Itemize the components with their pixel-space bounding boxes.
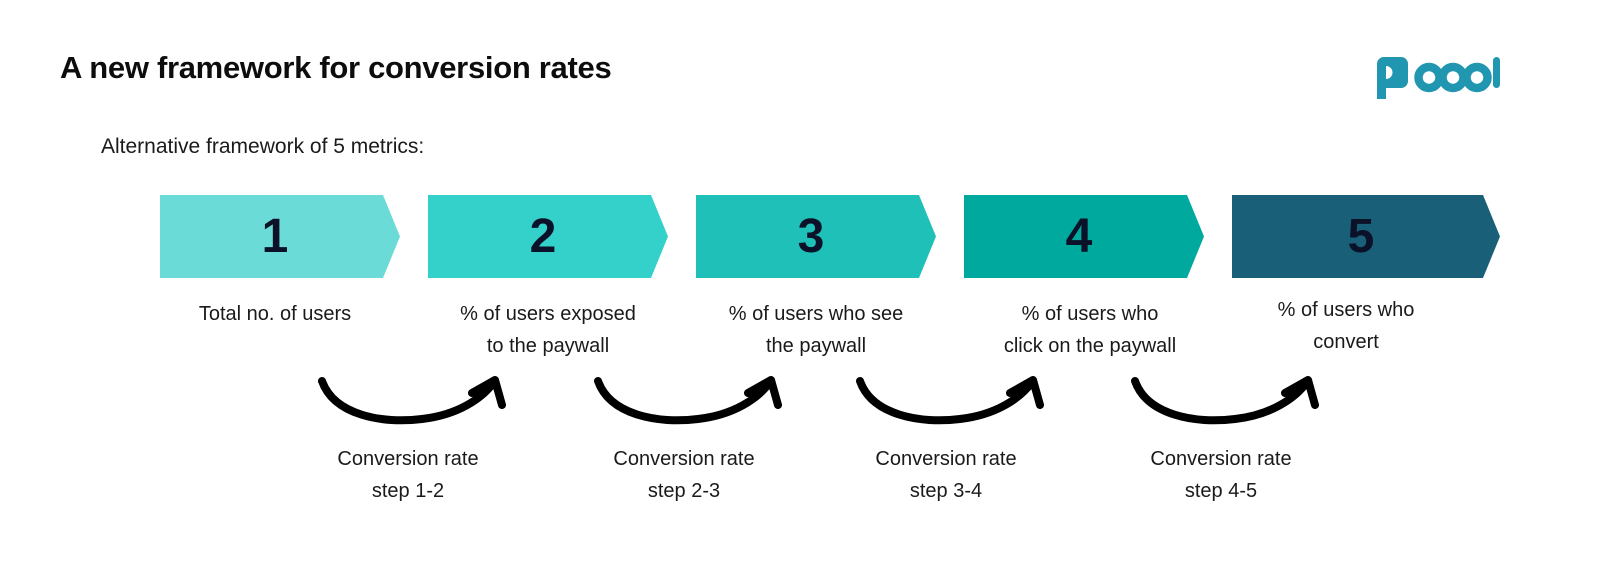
conversion-arrow-4-5: [1125, 375, 1325, 423]
step-caption-3: % of users who see the paywall: [686, 298, 946, 362]
funnel-step-4[interactable]: 4: [964, 195, 1204, 278]
conversion-arrow-1-2: [312, 375, 512, 423]
conversion-label-4-5: Conversion rate step 4-5: [1101, 443, 1341, 507]
caption-line: the paywall: [686, 330, 946, 362]
curved-arrow-icon: [1135, 380, 1315, 420]
label-line: Conversion rate: [1101, 443, 1341, 475]
label-line: step 2-3: [564, 475, 804, 507]
section-subtitle: Alternative framework of 5 metrics:: [101, 135, 424, 159]
caption-line: Total no. of users: [145, 298, 405, 330]
caption-line: % of users who: [1216, 294, 1476, 326]
conversion-arrow-2-3: [588, 375, 788, 423]
label-line: Conversion rate: [564, 443, 804, 475]
caption-line: click on the paywall: [954, 330, 1226, 362]
conversion-label-3-4: Conversion rate step 3-4: [826, 443, 1066, 507]
poool-logo: [1375, 55, 1500, 100]
page-header: A new framework for conversion rates: [0, 0, 1600, 120]
conversion-arrow-3-4: [850, 375, 1050, 423]
page-title: A new framework for conversion rates: [60, 50, 611, 86]
curved-arrow-icon: [322, 380, 502, 420]
curved-arrow-icon: [860, 380, 1040, 420]
step-number: 2: [530, 213, 567, 261]
step-caption-4: % of users who click on the paywall: [954, 298, 1226, 362]
caption-line: % of users who see: [686, 298, 946, 330]
label-line: Conversion rate: [288, 443, 528, 475]
funnel-step-5[interactable]: 5: [1232, 195, 1500, 278]
step-caption-2: % of users exposed to the paywall: [418, 298, 678, 362]
funnel-steps-row: 1 2 3 4 5: [0, 195, 1600, 278]
funnel-step-3[interactable]: 3: [696, 195, 936, 278]
caption-line: % of users exposed: [418, 298, 678, 330]
step-number: 1: [262, 213, 299, 261]
caption-line: to the paywall: [418, 330, 678, 362]
caption-line: convert: [1216, 326, 1476, 358]
conversion-label-1-2: Conversion rate step 1-2: [288, 443, 528, 507]
funnel-step-1[interactable]: 1: [160, 195, 400, 278]
step-caption-1: Total no. of users: [145, 298, 405, 330]
caption-line: % of users who: [954, 298, 1226, 330]
label-line: step 4-5: [1101, 475, 1341, 507]
step-number: 3: [798, 213, 835, 261]
label-line: Conversion rate: [826, 443, 1066, 475]
step-number: 4: [1066, 213, 1103, 261]
label-line: step 1-2: [288, 475, 528, 507]
conversion-label-2-3: Conversion rate step 2-3: [564, 443, 804, 507]
label-line: step 3-4: [826, 475, 1066, 507]
step-number: 5: [1348, 213, 1385, 261]
funnel-step-2[interactable]: 2: [428, 195, 668, 278]
curved-arrow-icon: [598, 380, 778, 420]
step-caption-5: % of users who convert: [1216, 294, 1476, 358]
